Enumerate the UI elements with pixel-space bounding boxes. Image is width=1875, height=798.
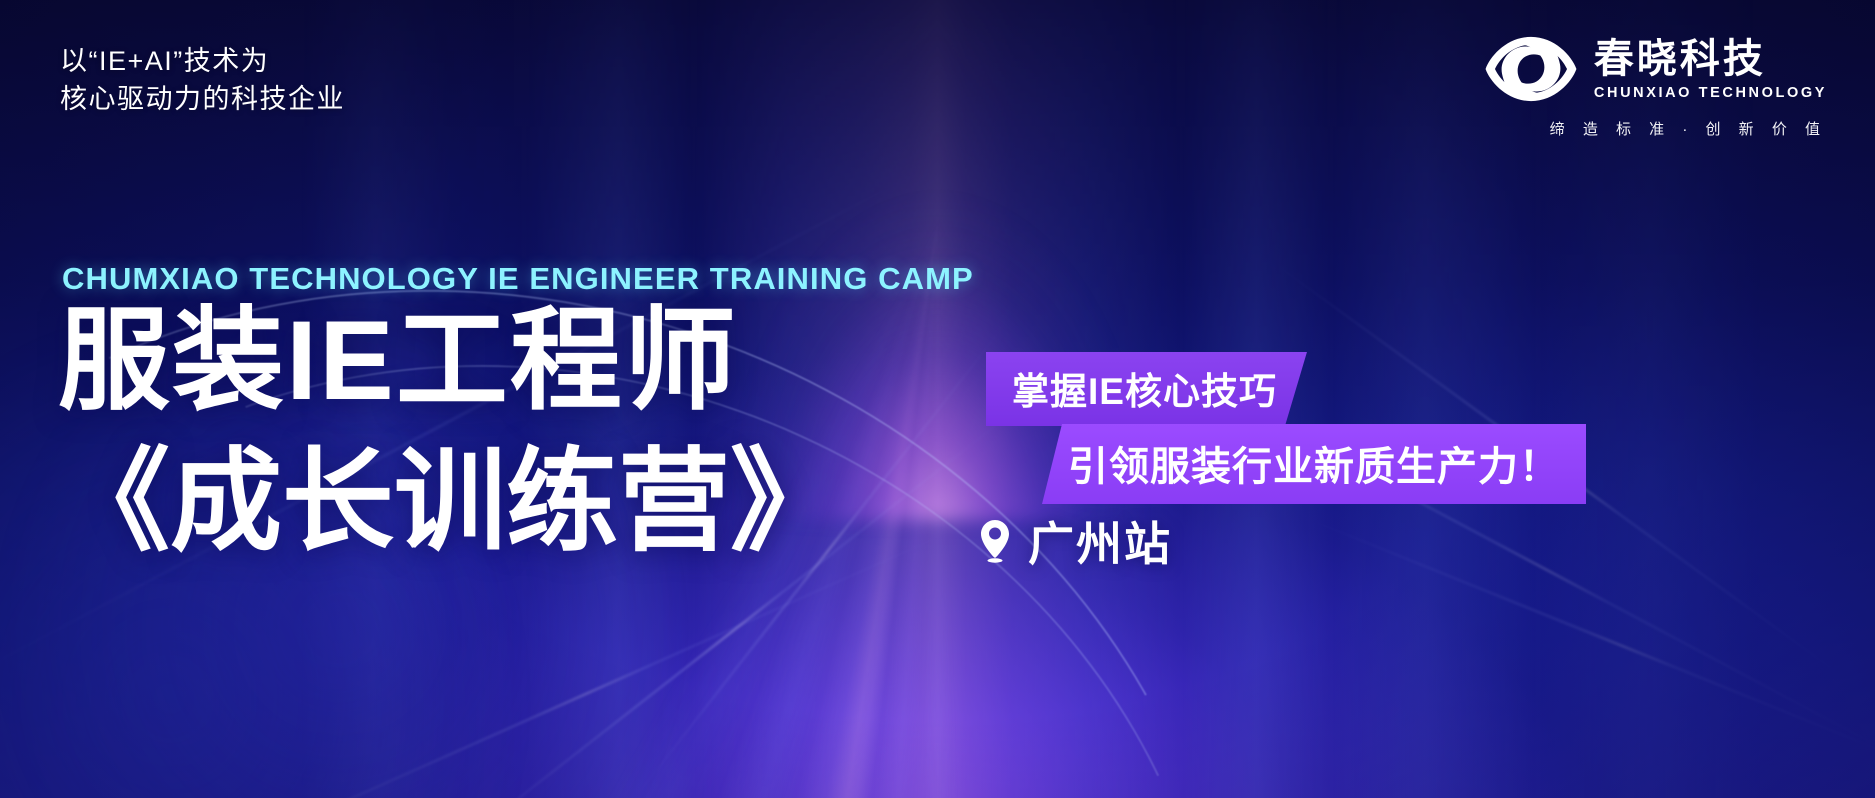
badge-core-skills: 掌握IE核心技巧 xyxy=(986,352,1307,426)
logo-slogan: 缔 造 标 准 · 创 新 价 值 xyxy=(1550,118,1827,139)
location-city: 广州站 xyxy=(1028,508,1172,574)
brand-logo-block: 春晓科技 CHUNXIAO TECHNOLOGY 缔 造 标 准 · 创 新 价… xyxy=(1484,32,1827,139)
logo-company-en: CHUNXIAO TECHNOLOGY xyxy=(1594,85,1827,101)
tagline-line-1: 以“IE+AI”技术为 xyxy=(60,42,345,80)
event-location: 广州站 xyxy=(978,508,1172,574)
main-headline: 服装IE工程师 《成长训练营》 xyxy=(58,290,842,572)
headline-line-1: 服装IE工程师 xyxy=(58,290,842,431)
tagline-line-2: 核心驱动力的科技企业 xyxy=(60,80,345,118)
promo-banner: 以“IE+AI”技术为 核心驱动力的科技企业 春晓科技 CHUNXIAO TEC… xyxy=(0,0,1875,798)
eye-swirl-logo-icon xyxy=(1484,32,1578,106)
headline-line-2: 《成长训练营》 xyxy=(58,431,842,572)
badge-industry-lead: 引领服装行业新质生产力！ xyxy=(1042,424,1586,504)
company-tagline: 以“IE+AI”技术为 核心驱动力的科技企业 xyxy=(60,42,345,119)
map-pin-icon xyxy=(978,519,1012,563)
logo-company-cn: 春晓科技 xyxy=(1594,38,1766,80)
